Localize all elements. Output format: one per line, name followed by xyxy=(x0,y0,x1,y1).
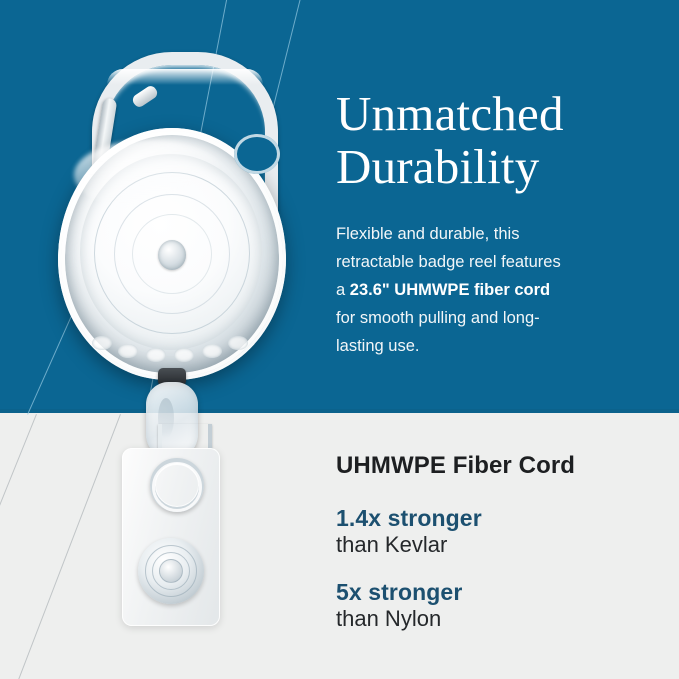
snap-ring-inner xyxy=(159,559,183,583)
stat-value: 5x stronger xyxy=(336,580,636,606)
stat-comparison: than Kevlar xyxy=(336,532,636,558)
metal-snap xyxy=(138,538,204,604)
hero-copy-block: Unmatched Durability Flexible and durabl… xyxy=(336,88,572,360)
hero-description: Flexible and durable, this retractable b… xyxy=(336,220,572,360)
split-ring xyxy=(150,458,204,512)
description-part-2: for smooth pulling and long-lasting use. xyxy=(336,309,540,355)
reel-body xyxy=(58,128,286,380)
description-emphasis: 23.6" UHMWPE fiber cord xyxy=(350,281,550,299)
stat-value: 1.4x stronger xyxy=(336,506,636,532)
headline-line-1: Unmatched xyxy=(336,86,564,141)
reel-gloss-highlight xyxy=(74,140,224,210)
stat-comparison: than Nylon xyxy=(336,606,636,632)
specs-block: UHMWPE Fiber Cord 1.4x stronger than Kev… xyxy=(336,452,636,654)
reel-center-hub xyxy=(158,240,186,270)
reel-bottom-texture xyxy=(92,326,252,366)
stat-item: 1.4x stronger than Kevlar xyxy=(336,506,636,558)
stat-item: 5x stronger than Nylon xyxy=(336,580,636,632)
product-illustration xyxy=(0,0,330,679)
product-feature-graphic: Unmatched Durability Flexible and durabl… xyxy=(0,0,679,679)
page-title: Unmatched Durability xyxy=(336,88,572,194)
specs-title: UHMWPE Fiber Cord xyxy=(336,452,636,480)
reel-notch xyxy=(234,134,280,174)
headline-line-2: Durability xyxy=(336,139,539,194)
